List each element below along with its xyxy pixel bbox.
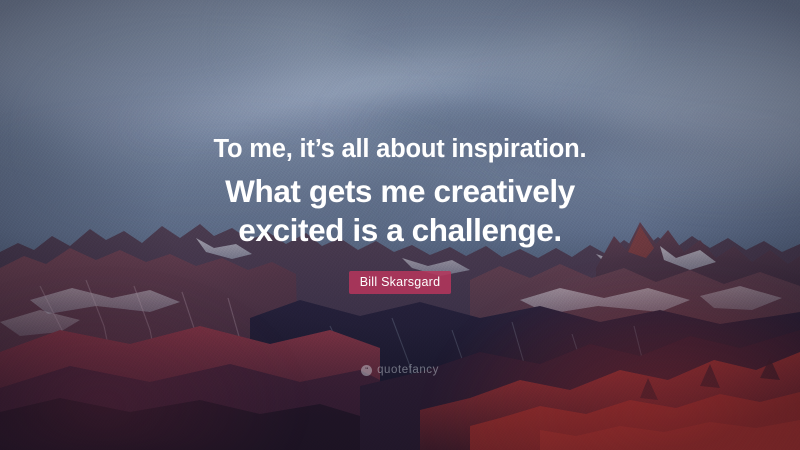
- quote-line-1: To me, it’s all about inspiration.: [80, 134, 720, 165]
- quote-poster: To me, it’s all about inspiration. What …: [0, 0, 800, 450]
- quote-text: To me, it’s all about inspiration. What …: [80, 134, 720, 294]
- quote-content: To me, it’s all about inspiration. What …: [0, 0, 800, 450]
- author-badge[interactable]: Bill Skarsgard: [349, 271, 452, 294]
- quote-line-3: excited is a challenge.: [80, 211, 720, 250]
- quote-line-2: What gets me creatively: [80, 172, 720, 211]
